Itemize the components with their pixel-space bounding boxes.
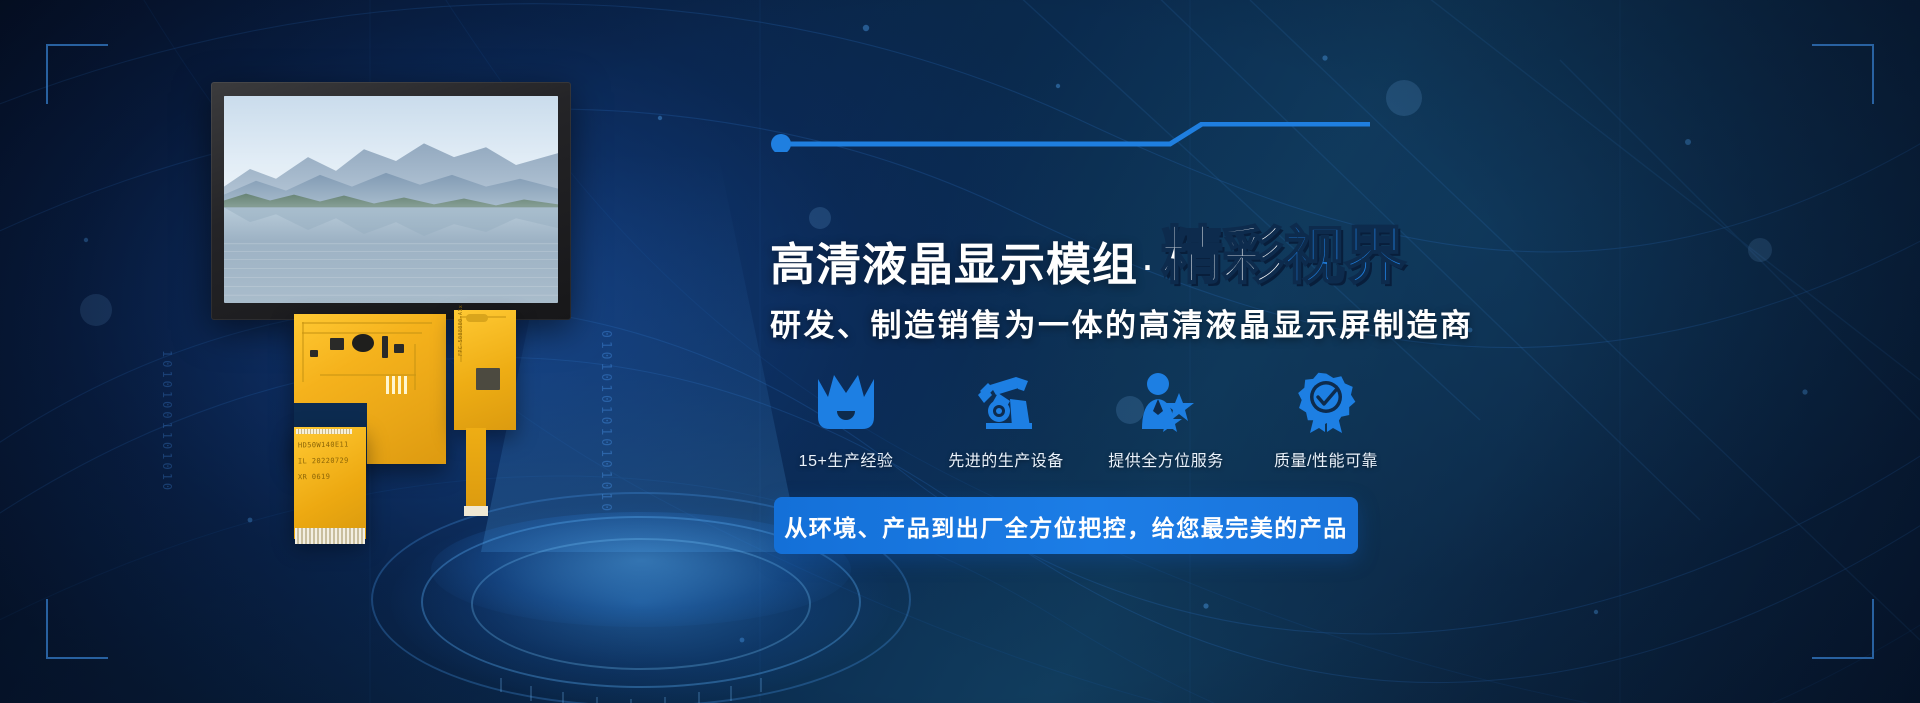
content-column: 高清液晶显示模组 · 精彩视界 研发、制造销售为一体的高清液晶显示屏制造商 15… bbox=[770, 86, 1860, 626]
feature-label-quality: 质量/性能可靠 bbox=[1274, 447, 1378, 471]
corner-bracket-top-left bbox=[46, 44, 108, 104]
service-person-icon bbox=[1132, 361, 1200, 433]
headline: 高清液晶显示模组 · 精彩视界 bbox=[770, 228, 1860, 287]
accent-line-decoration bbox=[770, 122, 1370, 152]
corner-bracket-bottom-left bbox=[46, 599, 108, 659]
robot-arm-icon bbox=[972, 361, 1040, 433]
fpc-touch-board: FPC-5008000-A1x bbox=[454, 310, 516, 430]
lcd-panel-bezel bbox=[211, 82, 571, 320]
feature-label-service: 提供全方位服务 bbox=[1108, 447, 1224, 471]
feature-item-experience: 15+生产经验 bbox=[776, 361, 916, 471]
fpc-side-code: FPC-5008000-A1x bbox=[458, 305, 464, 356]
fpc-tail: HD50W140E11 IL 20220729 XR 0619 bbox=[294, 427, 366, 539]
feature-item-equipment: 先进的生产设备 bbox=[936, 361, 1076, 471]
crown-icon bbox=[812, 361, 880, 433]
headline-big-white: 精彩 bbox=[1161, 222, 1283, 291]
headline-main-text: 高清液晶显示模组 bbox=[770, 242, 1138, 287]
fpc-connector-main bbox=[295, 528, 365, 544]
feature-item-quality: 质量/性能可靠 bbox=[1256, 361, 1396, 471]
fpc-touch-tail bbox=[466, 428, 486, 510]
feature-label-experience: 15+生产经验 bbox=[799, 447, 894, 471]
landscape-artwork bbox=[224, 96, 558, 303]
headline-separator: · bbox=[1138, 242, 1159, 287]
cta-text: 从环境、产品到出厂全方位把控，给您最完美的产品 bbox=[784, 509, 1348, 543]
fpc-code-2: IL 20220729 bbox=[298, 457, 349, 466]
fpc-code-3: XR 0619 bbox=[298, 473, 330, 482]
cta-banner[interactable]: 从环境、产品到出厂全方位把控，给您最完美的产品 bbox=[774, 497, 1358, 554]
product-image: HD50W140E11 IL 20220729 XR 0619 FPC-5008… bbox=[211, 82, 621, 482]
fpc-connector-touch bbox=[464, 506, 488, 516]
feature-label-equipment: 先进的生产设备 bbox=[948, 447, 1064, 471]
feature-item-service: 提供全方位服务 bbox=[1096, 361, 1236, 471]
lcd-screen-image bbox=[224, 96, 558, 303]
quality-badge-icon bbox=[1292, 361, 1360, 433]
subheadline: 研发、制造销售为一体的高清液晶显示屏制造商 bbox=[770, 300, 1474, 345]
binary-strip-left: 10101001101010 bbox=[160, 350, 174, 493]
headline-big-blue: 视界 bbox=[1283, 222, 1405, 291]
banner-stage: 01010101010101010 10101001101010 bbox=[0, 0, 1920, 703]
headline-big-text: 精彩视界 bbox=[1161, 228, 1405, 287]
feature-list: 15+生产经验 bbox=[776, 361, 1396, 471]
fpc-code-1: HD50W140E11 bbox=[298, 441, 349, 450]
